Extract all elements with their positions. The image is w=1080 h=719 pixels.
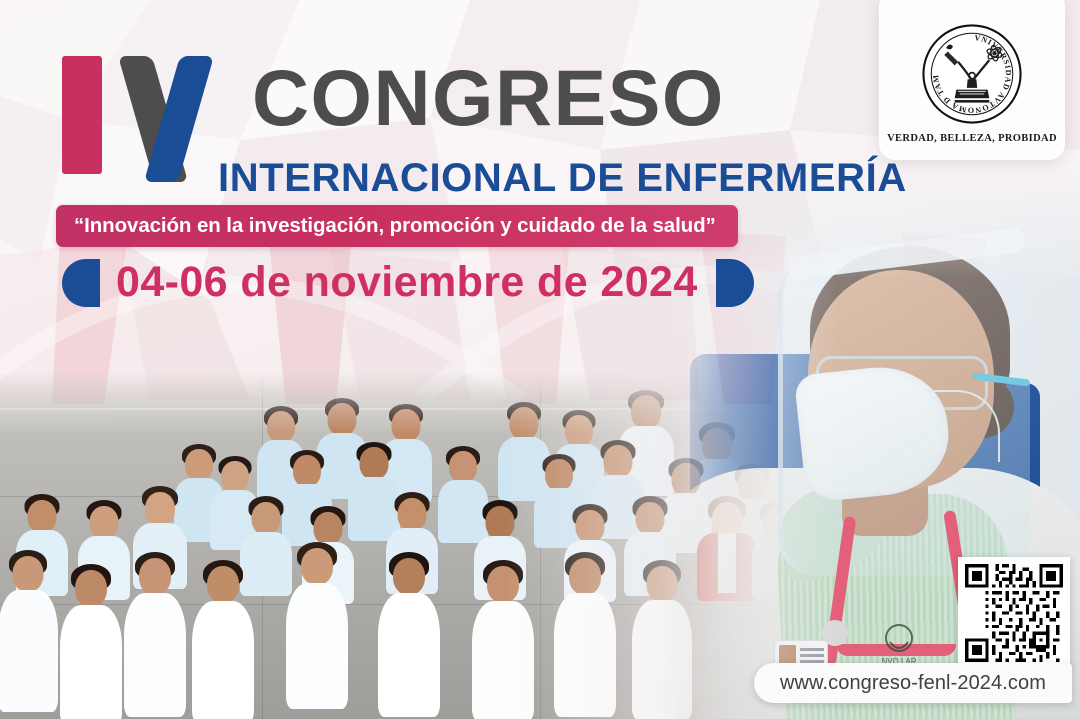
date-right-marker-icon <box>716 259 754 307</box>
numeral-v-glyph <box>118 56 230 178</box>
website-pill[interactable]: www.congreso-fenl-2024.com <box>754 663 1072 703</box>
title-main: CONGRESO <box>252 62 725 135</box>
uat-seal-icon: VNIVERSIDAD AVTONOMA D TAMAVLIPAS <box>920 22 1024 126</box>
edition-numeral <box>62 56 230 178</box>
website-url: www.congreso-fenl-2024.com <box>780 672 1046 695</box>
date-row: 04-06 de noviembre de 2024 <box>62 258 754 307</box>
tagline-text: “Innovación en la investigación, promoci… <box>74 214 716 238</box>
uat-logo-card: VNIVERSIDAD AVTONOMA D TAMAVLIPAS VERDAD… <box>879 0 1065 160</box>
title-sub: INTERNACIONAL DE ENFERMERÍA <box>218 156 907 201</box>
uat-motto: VERDAD, BELLEZA, PROBIDAD <box>887 133 1057 144</box>
numeral-i-glyph <box>62 56 102 174</box>
date-text: 04-06 de noviembre de 2024 <box>116 258 698 307</box>
date-left-marker-icon <box>62 259 100 307</box>
poster-root: UAT Universidad Autónoma de Tamaulipas F… <box>0 0 1080 719</box>
qr-code[interactable] <box>958 557 1070 669</box>
tagline-banner: “Innovación en la investigación, promoci… <box>56 205 738 247</box>
